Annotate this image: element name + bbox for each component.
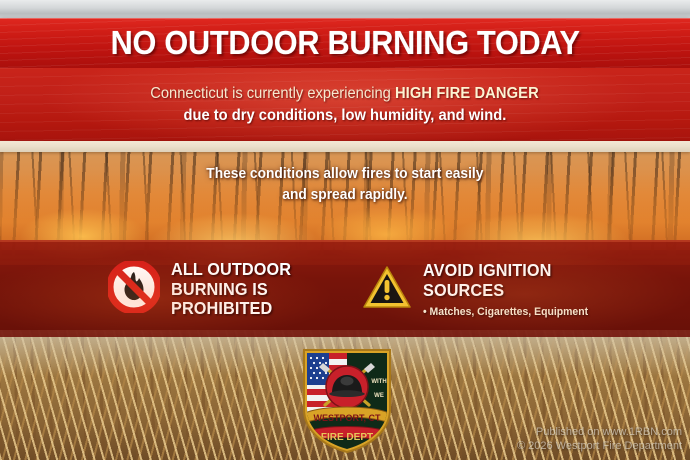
svg-text:WE: WE [374, 393, 384, 399]
fire-danger-poster: NO OUTDOOR BURNING TODAY Connecticut is … [0, 0, 690, 460]
warnings-panel: ALL OUTDOOR BURNING IS PROHIBITED AVOID … [0, 240, 690, 337]
no-burning-title-line-1: ALL OUTDOOR [171, 260, 291, 280]
warning-block-no-burning: ALL OUTDOOR BURNING IS PROHIBITED [108, 260, 300, 319]
warning-block-avoid-ignition: AVOID IGNITION SOURCES • Matches, Cigare… [362, 261, 597, 317]
no-burning-title-line-3: PROHIBITED [171, 299, 291, 319]
page-title: NO OUTDOOR BURNING TODAY [110, 24, 579, 62]
warning-triangle-icon [362, 265, 412, 315]
no-burning-title-line-2: BURNING IS [171, 280, 291, 300]
top-silver-strip [0, 0, 690, 18]
intro-line-1: Connecticut is currently experiencing HI… [151, 85, 540, 103]
avoid-ignition-title-line-2: SOURCES [423, 281, 585, 301]
attribution-line-2: © 2026 Westport Fire Department [517, 439, 682, 454]
no-open-fire-icon [108, 261, 160, 318]
attribution: Published on www.1RBN.com © 2026 Westpor… [517, 425, 682, 454]
high-fire-danger-emphasis: HIGH FIRE DANGER [395, 85, 539, 102]
westport-fire-department-badge: WITH WE WESTPORT, CT FIRE DEPT [299, 347, 395, 453]
svg-text:WESTPORT, CT: WESTPORT, CT [314, 413, 382, 423]
intro-line-2: due to dry conditions, low humidity, and… [184, 107, 507, 125]
svg-text:WITH: WITH [371, 379, 386, 385]
no-burning-text: ALL OUTDOOR BURNING IS PROHIBITED [171, 260, 300, 319]
attribution-line-1: Published on www.1RBN.com [517, 425, 682, 440]
intro-line-1-prefix: Connecticut is currently experiencing [151, 85, 396, 102]
intro-panel: Connecticut is currently experiencing HI… [0, 68, 690, 141]
headline-banner: NO OUTDOOR BURNING TODAY [0, 18, 690, 68]
middle-line-2: and spread rapidly. [282, 185, 407, 206]
svg-text:FIRE DEPT: FIRE DEPT [321, 432, 373, 443]
cream-divider-band [0, 141, 690, 152]
middle-line-1: These conditions allow fires to start ea… [206, 164, 483, 185]
avoid-ignition-title-line-1: AVOID IGNITION [423, 261, 585, 281]
avoid-ignition-subtitle: • Matches, Cigarettes, Equipment [423, 306, 588, 318]
middle-message: These conditions allow fires to start ea… [0, 164, 690, 206]
avoid-ignition-text: AVOID IGNITION SOURCES • Matches, Cigare… [423, 261, 597, 317]
